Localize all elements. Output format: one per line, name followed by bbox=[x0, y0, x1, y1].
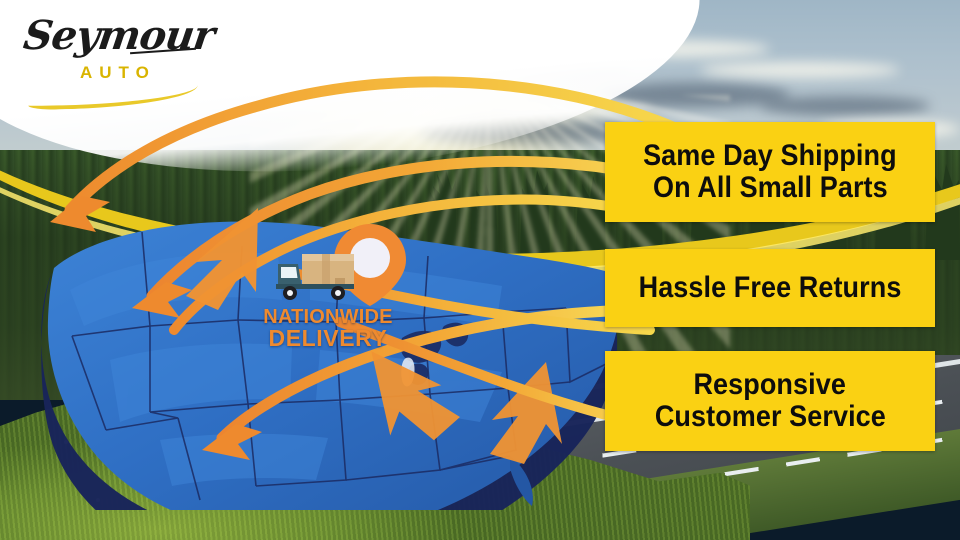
callout-line: Responsive bbox=[694, 369, 846, 401]
promo-banner: Seymour AUTO bbox=[0, 0, 960, 540]
delivery-truck-icon bbox=[272, 248, 362, 304]
tagline-line-2: DELIVERY bbox=[269, 325, 388, 351]
callout-line: Same Day Shipping bbox=[643, 140, 897, 172]
nationwide-delivery-tagline: NATIONWIDE DELIVERY bbox=[258, 307, 398, 350]
callout-line: Hassle Free Returns bbox=[639, 272, 902, 304]
arrow-head bbox=[50, 196, 110, 232]
callout-line: Customer Service bbox=[654, 401, 885, 433]
callout-responsive-customer-service[interactable]: Responsive Customer Service bbox=[605, 351, 935, 451]
callout-hassle-free-returns[interactable]: Hassle Free Returns bbox=[605, 249, 935, 327]
arrow-arc bbox=[70, 82, 680, 210]
callout-line: On All Small Parts bbox=[653, 172, 888, 204]
callout-same-day-shipping[interactable]: Same Day Shipping On All Small Parts bbox=[605, 122, 935, 222]
